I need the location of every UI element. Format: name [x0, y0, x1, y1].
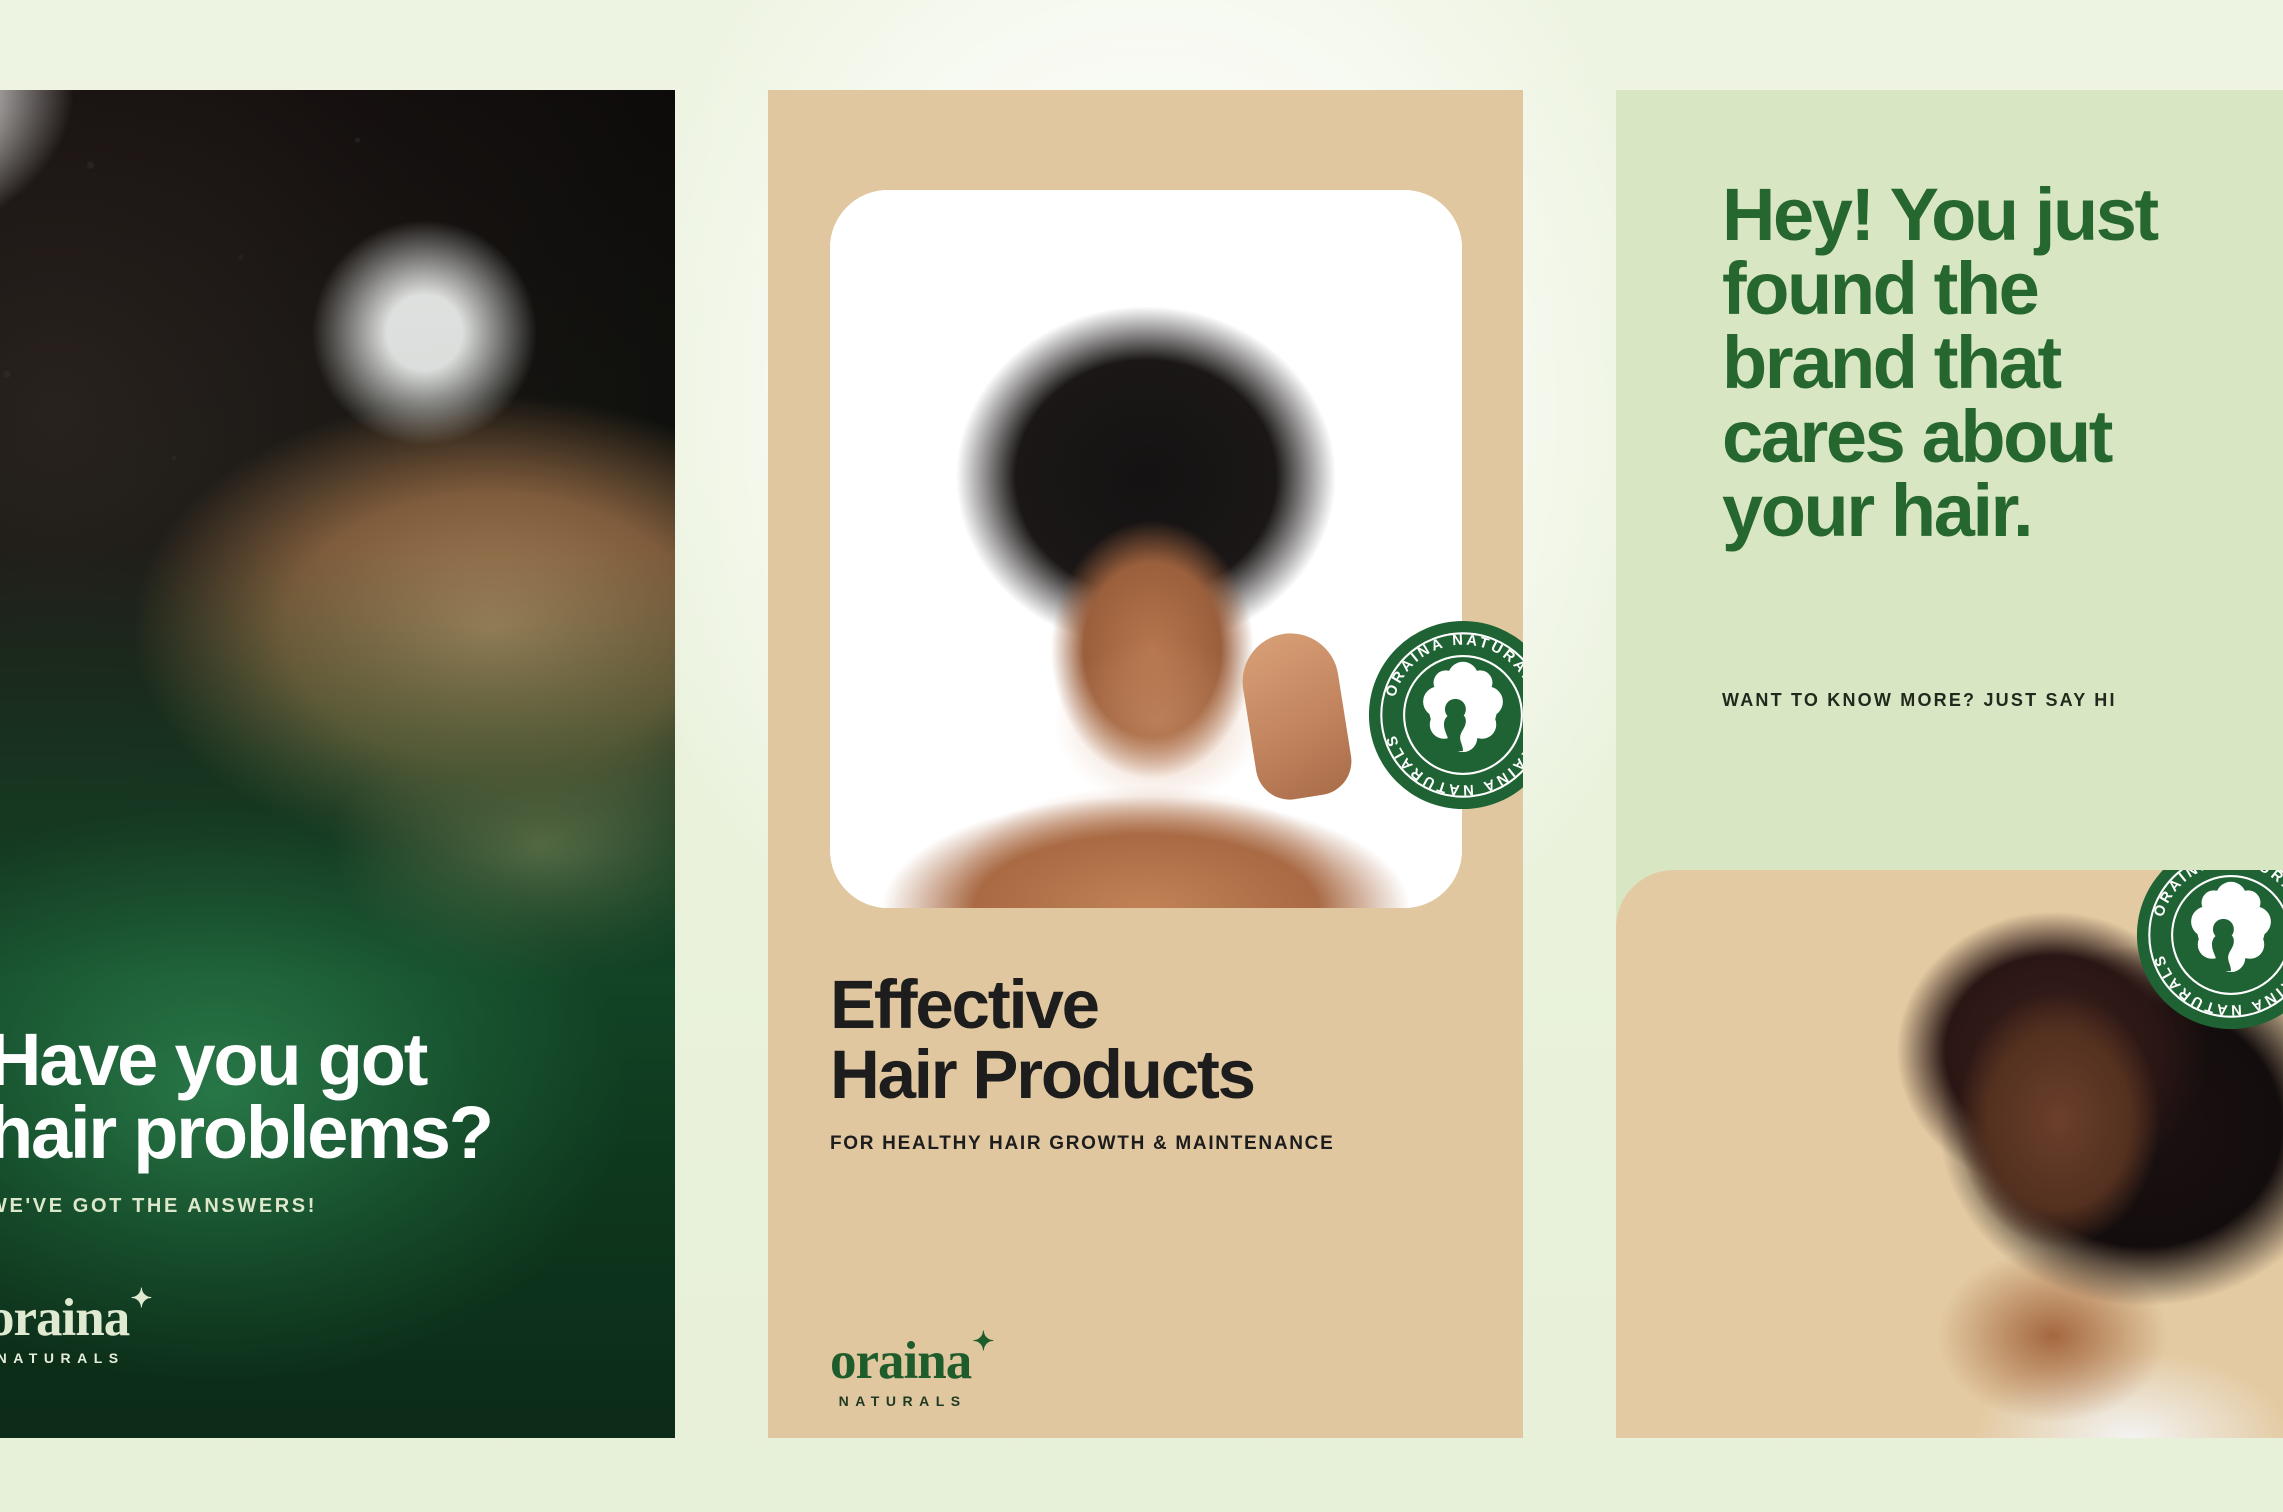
panel2-subtitle: FOR HEALTHY HAIR GROWTH & MAINTENANCE — [830, 1133, 1477, 1155]
panel3-subtitle: WANT TO KNOW MORE? JUST SAY HI — [1722, 690, 2117, 711]
sparkle-icon: ✦ — [130, 1286, 151, 1312]
oraina-naturals-seal-badge: ORAINA NATURALS ORAINA NATURALS — [2136, 870, 2283, 1030]
panel2-logo-lockup: oraina✦ NATURALS — [830, 1335, 971, 1411]
poster-hair-problems[interactable]: Have you got hair problems? WE'VE GOT TH… — [0, 90, 675, 1438]
panel3-headline-line-4: cares about — [1722, 400, 2283, 474]
panel1-subtitle: WE'VE GOT THE ANSWERS! — [0, 1195, 675, 1218]
poster-effective-hair-products[interactable]: ORAINA NATURALS ORAINA NATURALS — [768, 90, 1523, 1438]
poster-copy-block: Have you got hair problems? WE'VE GOT TH… — [0, 1023, 675, 1439]
logo-wordmark: oraina✦ — [0, 1292, 129, 1345]
sparkle-icon: ✦ — [972, 1329, 993, 1355]
panel3-headline-line-2: found the — [1722, 252, 2283, 326]
panel1-headline: Have you got hair problems? — [0, 1023, 675, 1170]
panel1-logo-lockup: oraina✦ NATURALS — [0, 1292, 675, 1368]
logo-tagline: NATURALS — [0, 1350, 129, 1366]
logo-wordmark-text: oraina — [830, 1332, 971, 1390]
logo-tagline: NATURALS — [830, 1393, 971, 1409]
panel3-headline-line-5: your hair. — [1722, 474, 2283, 548]
panel3-headline: Hey! You just found the brand that cares… — [1722, 178, 2283, 548]
logo-wordmark-text: oraina — [0, 1289, 129, 1347]
panel1-headline-line-2: hair problems? — [0, 1096, 675, 1169]
poster-brand-intro[interactable]: Hey! You just found the brand that cares… — [1616, 90, 2283, 1438]
panel2-headline: Effective Hair Products — [830, 970, 1477, 1111]
logo-wordmark: oraina✦ — [830, 1335, 971, 1388]
panel2-headline-line-1: Effective — [830, 970, 1477, 1040]
panel3-headline-line-3: brand that — [1722, 326, 2283, 400]
oraina-naturals-seal-badge: ORAINA NATURALS ORAINA NATURALS — [1368, 620, 1523, 810]
poster-gallery: Have you got hair problems? WE'VE GOT TH… — [0, 0, 2283, 1512]
panel3-headline-line-1: Hey! You just — [1722, 178, 2283, 252]
panel2-headline-line-2: Hair Products — [830, 1040, 1477, 1110]
panel3-photo-card: oraina✦ NATURALS ORAINA NATURALS — [1616, 870, 2283, 1438]
panel2-copy-block: Effective Hair Products FOR HEALTHY HAIR… — [830, 970, 1477, 1155]
panel1-headline-line-1: Have you got — [0, 1023, 675, 1096]
